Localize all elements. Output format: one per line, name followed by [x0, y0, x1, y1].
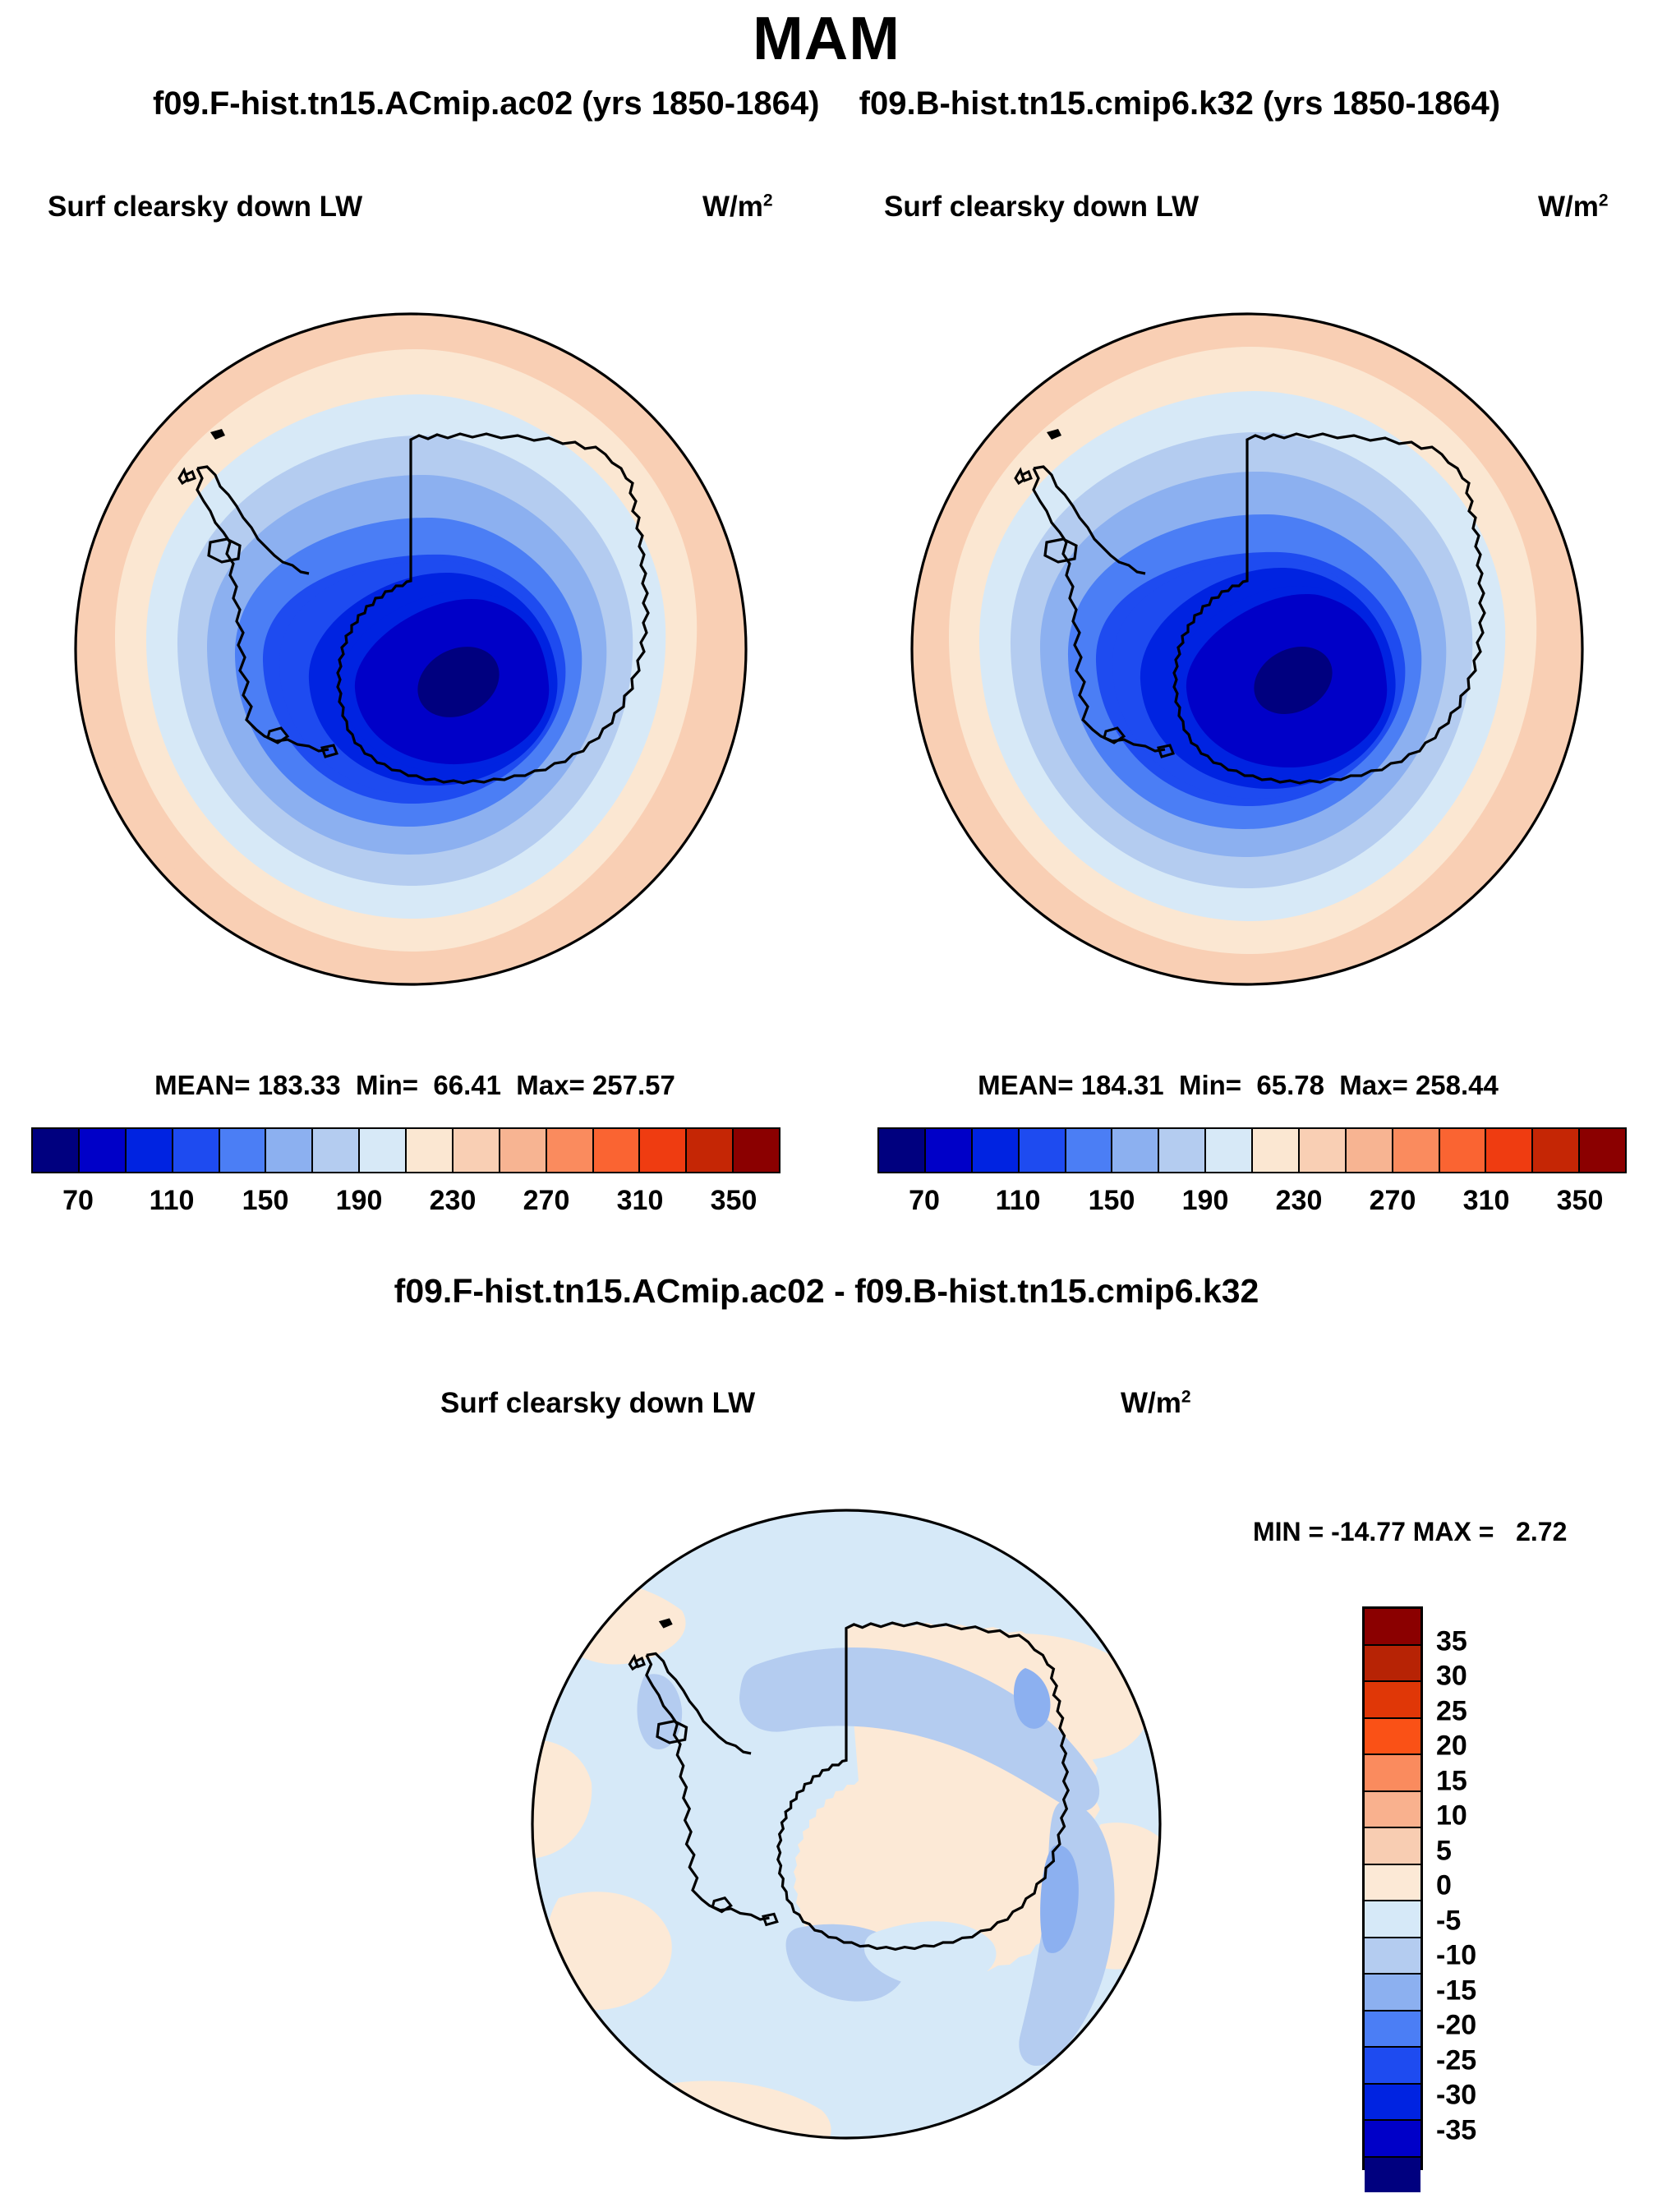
colorbar-swatch — [33, 1129, 80, 1172]
colorbar-tick-label: 110 — [996, 1185, 1041, 1217]
colorbar-swatch — [1365, 1609, 1420, 1646]
colorbar-swatch — [1365, 1828, 1420, 1865]
colorbar-swatch — [1020, 1129, 1066, 1172]
right-panel-units-label: W/m2 — [1538, 191, 1609, 224]
colorbar-tick-label: 350 — [1557, 1185, 1604, 1217]
colorbar-swatch — [1365, 1938, 1420, 1975]
colorbar-tick-label: -5 — [1436, 1905, 1461, 1937]
left-colorbar-swatches — [31, 1127, 780, 1173]
colorbar-swatch — [1393, 1129, 1440, 1172]
right-polar-map — [869, 271, 1625, 1027]
difference-colorbar-swatches — [1362, 1606, 1423, 2170]
colorbar-swatch — [1159, 1129, 1206, 1172]
colorbar-swatch — [1440, 1129, 1487, 1172]
colorbar-swatch — [687, 1129, 734, 1172]
colorbar-tick-label: 110 — [150, 1185, 195, 1217]
colorbar-swatch — [640, 1129, 687, 1172]
colorbar-swatch — [1580, 1129, 1625, 1172]
colorbar-swatch — [1365, 1865, 1420, 1902]
colorbar-swatch — [407, 1129, 454, 1172]
colorbar-swatch — [454, 1129, 500, 1172]
colorbar-swatch — [313, 1129, 360, 1172]
colorbar-tick-label: -15 — [1436, 1975, 1476, 2007]
right-panel-variable-label: Surf clearsky down LW — [884, 191, 1199, 224]
left-panel-variable-label: Surf clearsky down LW — [48, 191, 362, 224]
diff-panel-variable-label: Surf clearsky down LW — [440, 1387, 755, 1420]
left-panel-units-label: W/m2 — [702, 191, 773, 224]
colorbar-swatch — [1365, 2121, 1420, 2158]
colorbar-swatch — [1486, 1129, 1533, 1172]
colorbar-swatch — [1365, 2085, 1420, 2122]
right-colorbar-ticks: 70110150190230270310350 — [877, 1185, 1627, 1226]
colorbar-swatch — [1365, 1792, 1420, 1829]
colorbar-swatch — [1365, 1719, 1420, 1756]
colorbar-tick-label: 30 — [1436, 1661, 1467, 1693]
colorbar-swatch — [1365, 2158, 1420, 2193]
left-panel-stats: MEAN= 183.33 Min= 66.41 Max= 257.57 — [0, 1070, 830, 1101]
colorbar-swatch — [1365, 2048, 1420, 2085]
left-units-text: W/m — [702, 191, 763, 223]
colorbar-swatch — [266, 1129, 313, 1172]
colorbar-tick-label: 25 — [1436, 1695, 1467, 1727]
colorbar-tick-label: -20 — [1436, 2010, 1476, 2042]
page-title: MAM — [0, 3, 1653, 73]
colorbar-swatch — [973, 1129, 1020, 1172]
colorbar-tick-label: 270 — [1370, 1185, 1416, 1217]
colorbar-tick-label: 35 — [1436, 1625, 1467, 1657]
diff-panel-units-label: W/m2 — [1121, 1387, 1191, 1420]
colorbar-tick-label: 190 — [1182, 1185, 1229, 1217]
colorbar-swatch — [1066, 1129, 1113, 1172]
colorbar-swatch — [500, 1129, 547, 1172]
colorbar-swatch — [734, 1129, 779, 1172]
colorbar-tick-label: 0 — [1436, 1870, 1452, 1902]
left-colorbar: 70110150190230270310350 — [31, 1127, 780, 1226]
colorbar-swatch — [173, 1129, 220, 1172]
colorbar-swatch — [80, 1129, 127, 1172]
colorbar-swatch — [1365, 1646, 1420, 1683]
colorbar-swatch — [360, 1129, 407, 1172]
right-panel-stats: MEAN= 184.31 Min= 65.78 Max= 258.44 — [823, 1070, 1653, 1101]
colorbar-tick-label: 230 — [430, 1185, 477, 1217]
right-colorbar-swatches — [877, 1127, 1627, 1173]
right-units-text: W/m — [1538, 191, 1599, 223]
colorbar-tick-label: 15 — [1436, 1765, 1467, 1797]
colorbar-tick-label: -30 — [1436, 2080, 1476, 2112]
colorbar-swatch — [1112, 1129, 1159, 1172]
colorbar-swatch — [1347, 1129, 1393, 1172]
right-colorbar: 70110150190230270310350 — [877, 1127, 1627, 1226]
colorbar-swatch — [1300, 1129, 1347, 1172]
colorbar-swatch — [127, 1129, 173, 1172]
colorbar-tick-label: 5 — [1436, 1835, 1452, 1867]
colorbar-tick-label: 70 — [909, 1185, 940, 1217]
colorbar-tick-label: 310 — [1463, 1185, 1510, 1217]
colorbar-swatch — [1365, 1901, 1420, 1938]
colorbar-swatch — [547, 1129, 594, 1172]
left-run-title: f09.F-hist.tn15.ACmip.ac02 (yrs 1850-186… — [153, 85, 819, 122]
right-units-exponent: 2 — [1599, 191, 1609, 210]
run-titles-row: f09.F-hist.tn15.ACmip.ac02 (yrs 1850-186… — [0, 85, 1653, 122]
colorbar-tick-label: 150 — [1089, 1185, 1135, 1217]
left-colorbar-ticks: 70110150190230270310350 — [31, 1185, 780, 1226]
colorbar-tick-label: -35 — [1436, 2114, 1476, 2146]
colorbar-tick-label: 230 — [1276, 1185, 1323, 1217]
left-polar-map — [33, 271, 789, 1027]
colorbar-tick-label: 310 — [617, 1185, 664, 1217]
colorbar-tick-label: 270 — [523, 1185, 570, 1217]
diff-panel-stats: MIN = -14.77 MAX = 2.72 — [1253, 1517, 1567, 1547]
colorbar-swatch — [1365, 1975, 1420, 2012]
colorbar-swatch — [1365, 1682, 1420, 1719]
difference-colorbar-ticks: 35302520151050-5-10-15-20-25-30-35 — [1436, 1606, 1600, 2165]
title-spacer — [829, 85, 850, 122]
diff-units-text: W/m — [1121, 1387, 1181, 1419]
colorbar-tick-label: 350 — [711, 1185, 757, 1217]
colorbar-swatch — [1365, 2012, 1420, 2048]
colorbar-swatch — [594, 1129, 641, 1172]
colorbar-tick-label: -10 — [1436, 1940, 1476, 1972]
colorbar-swatch — [1533, 1129, 1580, 1172]
colorbar-swatch — [1206, 1129, 1253, 1172]
colorbar-tick-label: -25 — [1436, 2044, 1476, 2076]
colorbar-swatch — [1253, 1129, 1300, 1172]
colorbar-swatch — [926, 1129, 973, 1172]
left-units-exponent: 2 — [763, 191, 773, 210]
difference-polar-map — [493, 1471, 1199, 2177]
colorbar-swatch — [220, 1129, 267, 1172]
colorbar-swatch — [879, 1129, 926, 1172]
colorbar-tick-label: 70 — [62, 1185, 94, 1217]
colorbar-tick-label: 150 — [242, 1185, 289, 1217]
colorbar-tick-label: 190 — [336, 1185, 383, 1217]
diff-units-exponent: 2 — [1181, 1387, 1191, 1406]
colorbar-tick-label: 10 — [1436, 1800, 1467, 1832]
difference-title: f09.F-hist.tn15.ACmip.ac02 - f09.B-hist.… — [0, 1272, 1653, 1311]
colorbar-swatch — [1365, 1755, 1420, 1792]
right-run-title: f09.B-hist.tn15.cmip6.k32 (yrs 1850-1864… — [859, 85, 1500, 122]
colorbar-tick-label: 20 — [1436, 1730, 1467, 1763]
